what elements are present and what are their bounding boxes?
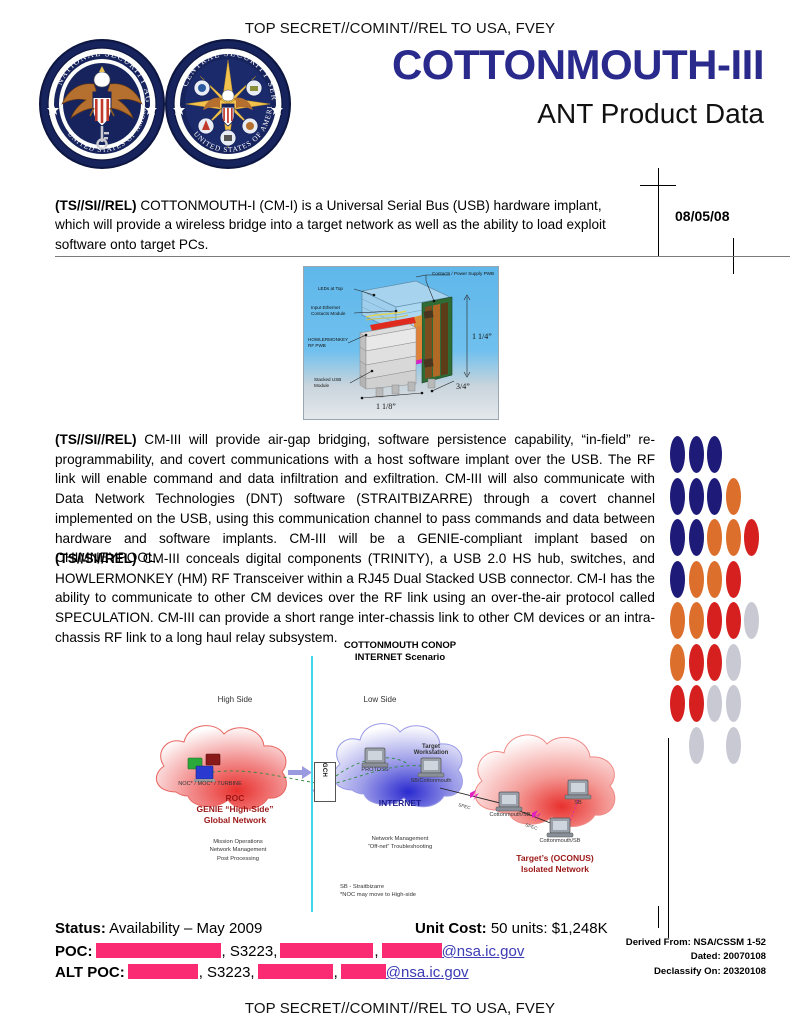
caption-int-1: Network Management xyxy=(340,835,460,843)
node-label-cottonmouth-sb-1: Cottonmouth/SB xyxy=(478,812,542,818)
caption-hs-3: Post Processing xyxy=(188,855,288,863)
poc-redaction-3 xyxy=(382,943,442,958)
gch-label: GCH xyxy=(321,762,327,778)
roc-line3: Global Network xyxy=(180,815,290,826)
ant-logo-oval xyxy=(707,561,722,598)
node-label-protoss: PROTOSS xyxy=(347,767,403,773)
paragraph-2-marking: (TS//SI//REL) xyxy=(55,551,137,566)
node-label-noc-moc-turbine: NOC* / MOC* / TURBINE xyxy=(160,781,260,787)
svg-text:3/4”: 3/4” xyxy=(456,382,470,391)
page-subtitle: ANT Product Data xyxy=(244,99,764,128)
cloud-label-target-isolated: Target’s (OCONUS) Isolated Network xyxy=(495,853,615,875)
caption-int-2: “Off-net” Troubleshooting xyxy=(340,843,460,851)
ant-logo-oval xyxy=(707,602,722,639)
body-paragraph-1: (TS//SI//REL) CM-III will provide air-ga… xyxy=(55,430,655,568)
derivation-block: Derived From: NSA/CSSM 1-52 Dated: 20070… xyxy=(556,936,766,979)
roc-line2: GENIE “High-Side” xyxy=(180,804,290,815)
node-label-sb-cottonmouth: SB/Cottonmouth xyxy=(399,778,463,784)
poc-org: , S3223, xyxy=(222,943,278,960)
poc-redaction-1 xyxy=(96,943,221,958)
conop-footnotes: SB - Straitbizarre *NOC may move to High… xyxy=(340,883,416,900)
caption-internet: Network Management “Off-net” Troubleshoo… xyxy=(340,835,460,852)
ant-logo-oval xyxy=(689,685,704,722)
ant-logo-oval xyxy=(707,436,722,473)
svg-text:1 1/8”: 1 1/8” xyxy=(376,402,396,411)
footnote-1: SB - Straitbizarre xyxy=(340,883,416,891)
intro-text: COTTONMOUTH-I (CM-I) is a Universal Seri… xyxy=(55,198,606,252)
body-paragraph-2: (TS//SI//REL) CM-III conceals digital co… xyxy=(55,549,655,648)
ant-logo-oval xyxy=(726,602,741,639)
document-page: TOP SECRET//COMINT//REL TO USA, FVEY xyxy=(0,0,800,1035)
ant-logo-oval xyxy=(726,685,741,722)
paragraph-1-marking: (TS//SI//REL) xyxy=(55,432,137,447)
footnote-2: *NOC may move to High-side xyxy=(340,891,416,899)
node-label-target-workstation-line2: Workstation xyxy=(403,750,459,756)
alt-poc-redaction-1 xyxy=(128,964,198,979)
classification-banner-bottom: TOP SECRET//COMINT//REL TO USA, FVEY xyxy=(0,1000,800,1017)
alt-poc-label: ALT POC: xyxy=(55,964,125,981)
alt-poc-redaction-2 xyxy=(258,964,333,979)
caption-hs-1: Mission Operations xyxy=(188,838,288,846)
ant-logo-oval xyxy=(726,644,741,681)
alt-poc-email-link[interactable]: @nsa.ic.gov xyxy=(386,964,469,981)
ant-logo-oval xyxy=(726,561,741,598)
poc-comma: , xyxy=(374,943,378,960)
svg-text:Stacked USB: Stacked USB xyxy=(314,377,341,382)
crop-mark-vertical-main xyxy=(658,168,659,256)
unit-cost-label: Unit Cost: xyxy=(415,920,487,937)
ant-logo-oval xyxy=(689,727,704,764)
unit-cost-line: Unit Cost: 50 units: $1,248K xyxy=(415,920,608,937)
ant-logo-oval xyxy=(689,478,704,515)
status-line: Status: Availability – May 2009 xyxy=(55,920,262,937)
ant-logo-oval xyxy=(744,602,759,639)
paragraph-1-text: CM-III will provide air-gap bridging, so… xyxy=(55,432,655,565)
product-photo-diagram: LEDs at Top Input Ethernet Contacts Modu… xyxy=(303,266,499,420)
ant-logo-oval xyxy=(707,519,722,556)
nsa-seal-icon: NATIONAL SECURITY AGENCY UNITED STATES O… xyxy=(36,38,168,170)
status-label: Status: xyxy=(55,920,106,937)
poc-email-link[interactable]: @nsa.ic.gov xyxy=(442,943,525,960)
alt-poc-row: ALT POC: , S3223, , @nsa.ic.gov xyxy=(55,962,469,981)
ant-logo-oval xyxy=(670,602,685,639)
classification-banner-top: TOP SECRET//COMINT//REL TO USA, FVEY xyxy=(0,20,800,37)
svg-text:RF PWB: RF PWB xyxy=(308,343,326,348)
poc-label: POC: xyxy=(55,943,93,960)
ant-logo-oval xyxy=(670,561,685,598)
derived-from: Derived From: NSA/CSSM 1-52 xyxy=(556,936,766,950)
svg-text:Module: Module xyxy=(314,383,330,388)
ant-logo-oval xyxy=(670,644,685,681)
intro-classification-marking: (TS//SI//REL) xyxy=(55,198,137,213)
caption-high-side: Mission Operations Network Management Po… xyxy=(188,838,288,863)
paragraph-2-text: CM-III conceals digital components (TRIN… xyxy=(55,551,655,645)
intro-paragraph: (TS//SI//REL) COTTONMOUTH-I (CM-I) is a … xyxy=(55,196,640,254)
svg-text:Contacts / Power Supply PWB: Contacts / Power Supply PWB xyxy=(432,271,494,276)
computer-sb xyxy=(565,780,591,799)
ant-logo-oval xyxy=(707,644,722,681)
ant-logo-oval-grid xyxy=(670,436,762,758)
ant-logo-oval xyxy=(726,519,741,556)
ant-logo-oval xyxy=(726,727,741,764)
svg-text:1 1/4”: 1 1/4” xyxy=(472,332,492,341)
ant-logo-oval xyxy=(670,685,685,722)
ant-logo-oval xyxy=(744,519,759,556)
dated: Dated: 20070108 xyxy=(556,950,766,964)
ant-logo-oval xyxy=(689,436,704,473)
ant-logo-oval xyxy=(726,478,741,515)
computer-protoss xyxy=(362,748,388,767)
computer-cottonmouth-sb-1 xyxy=(496,792,522,811)
status-value: Availability – May 2009 xyxy=(106,920,262,937)
ant-logo-oval xyxy=(689,602,704,639)
svg-text:HOWLERMONKEY: HOWLERMONKEY xyxy=(308,337,348,342)
poc-row: POC: , S3223, , @nsa.ic.gov xyxy=(55,941,524,960)
ant-logo-oval xyxy=(670,436,685,473)
conop-diagram: COTTONMOUTH CONOP INTERNET Scenario High… xyxy=(140,640,660,912)
poc-redaction-2 xyxy=(280,943,373,958)
svg-text:LEDs at Top: LEDs at Top xyxy=(318,286,343,291)
cloud-label-roc: ROC GENIE “High-Side” Global Network xyxy=(180,793,290,826)
caption-hs-2: Network Management xyxy=(188,846,288,854)
link-label-spec-1: SPEC xyxy=(458,802,472,810)
crop-mark-vertical-conop xyxy=(668,738,669,938)
ant-logo-oval xyxy=(689,519,704,556)
date-stamp: 08/05/08 xyxy=(675,208,730,224)
node-label-sb: SB xyxy=(562,800,594,806)
declassify-on: Declassify On: 20320108 xyxy=(556,965,766,979)
target-line1: Target’s (OCONUS) xyxy=(495,853,615,864)
computer-cottonmouth-sb-2 xyxy=(547,818,573,837)
title-block: COTTONMOUTH-III ANT Product Data xyxy=(244,44,764,128)
computer-target-workstation xyxy=(418,758,444,777)
page-title: COTTONMOUTH-III xyxy=(244,44,764,87)
svg-text:Input Ethernet: Input Ethernet xyxy=(311,305,341,310)
ant-logo-oval xyxy=(670,519,685,556)
alt-poc-comma: , xyxy=(334,964,338,981)
alt-poc-redaction-3 xyxy=(341,964,386,979)
ant-logo-oval xyxy=(707,478,722,515)
roc-line1: ROC xyxy=(180,793,290,804)
crop-mark-horizontal-top xyxy=(640,185,676,186)
alt-poc-org: , S3223, xyxy=(199,964,255,981)
ant-logo-oval xyxy=(689,561,704,598)
section-divider-rule xyxy=(55,256,790,257)
ant-logo-oval xyxy=(670,478,685,515)
svg-text:Contacts Module: Contacts Module xyxy=(311,311,346,316)
ant-logo-oval xyxy=(689,644,704,681)
target-line2: Isolated Network xyxy=(495,864,615,875)
unit-cost-value: 50 units: $1,248K xyxy=(487,920,608,937)
node-label-cottonmouth-sb-2: Cottonmouth/SB xyxy=(528,838,592,844)
cloud-label-internet: INTERNET xyxy=(350,798,450,809)
ant-logo-oval xyxy=(707,685,722,722)
